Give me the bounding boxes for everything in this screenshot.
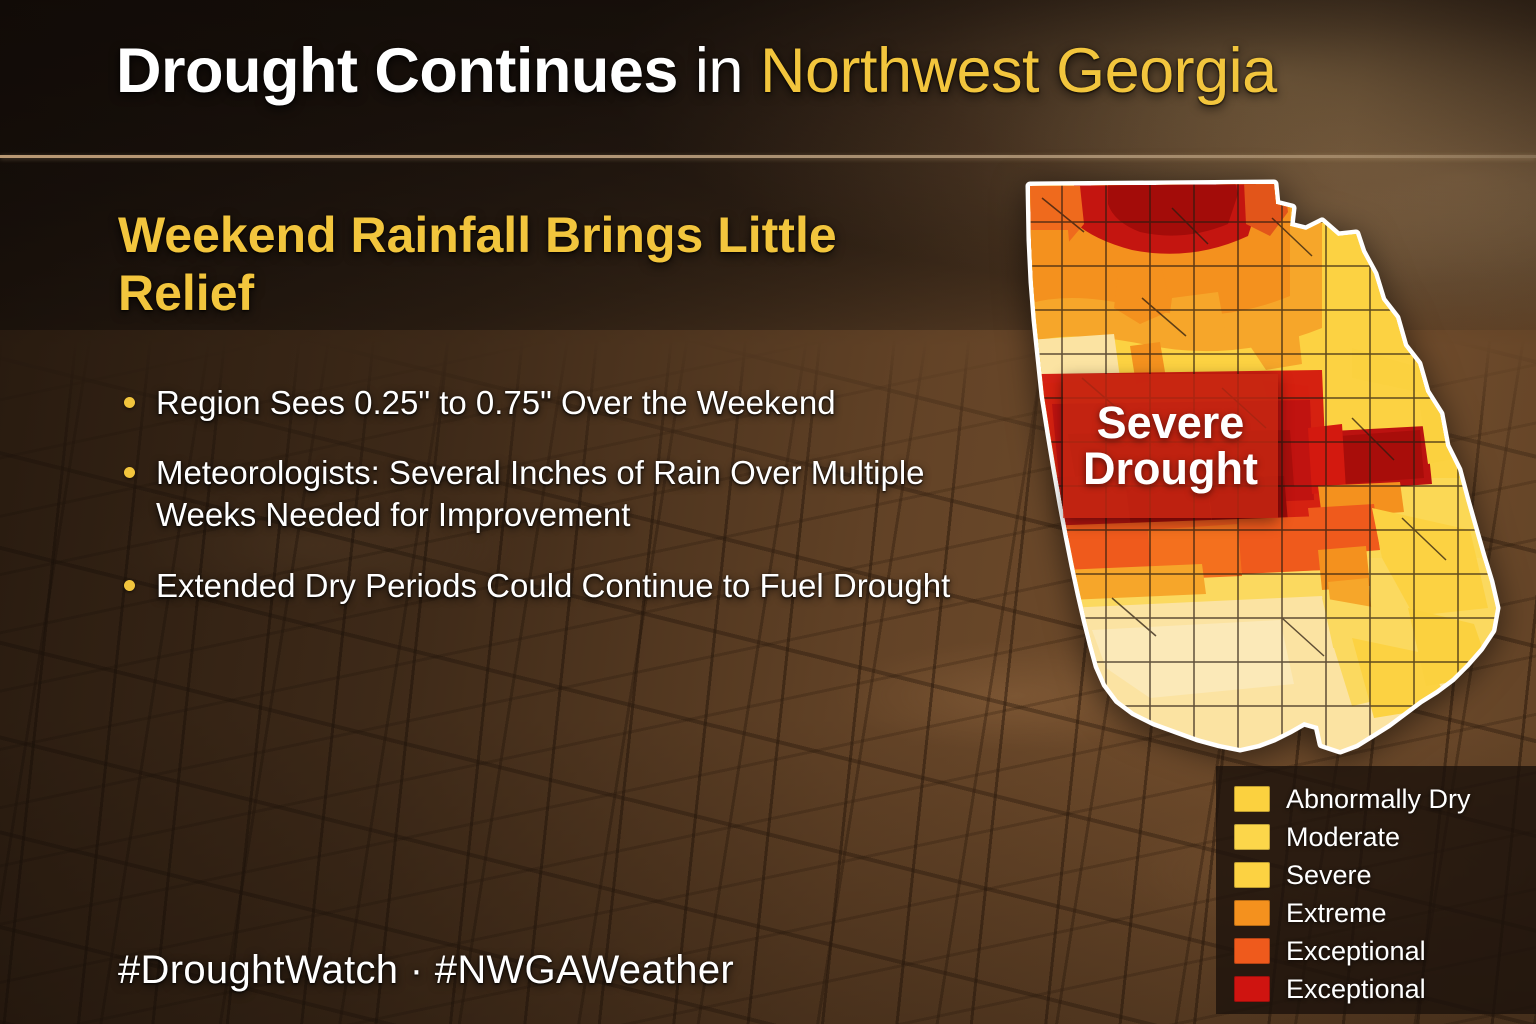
- bullet-dot-icon: [124, 467, 135, 478]
- legend-swatch: [1234, 900, 1270, 926]
- hashtag-footer: #DroughtWatch · #NWGAWeather: [118, 948, 734, 993]
- page-title: Drought Continues in Northwest Georgia: [116, 40, 1277, 103]
- legend-item: Severe: [1234, 856, 1536, 894]
- legend-label: Extreme: [1286, 900, 1387, 927]
- list-item: Meteorologists: Several Inches of Rain O…: [118, 452, 1028, 536]
- legend-item: Moderate: [1234, 818, 1536, 856]
- list-item-text: Region Sees 0.25" to 0.75" Over the Week…: [156, 384, 836, 421]
- legend-swatch: [1234, 938, 1270, 964]
- legend-swatch: [1234, 862, 1270, 888]
- legend-item: Abnormally Dry: [1234, 780, 1536, 818]
- legend-label: Moderate: [1286, 824, 1400, 851]
- legend-label: Exceptional: [1286, 938, 1426, 965]
- title-accent: Northwest Georgia: [760, 36, 1277, 106]
- legend-swatch: [1234, 786, 1270, 812]
- severe-drought-callout: Severe Drought: [1063, 374, 1278, 518]
- legend-item: Exceptional: [1234, 932, 1536, 970]
- legend-swatch: [1234, 976, 1270, 1002]
- weather-graphic: Drought Continues in Northwest Georgia W…: [0, 0, 1536, 1024]
- list-item: Region Sees 0.25" to 0.75" Over the Week…: [118, 382, 1028, 424]
- title-connector: in: [678, 36, 760, 106]
- header-divider: [0, 155, 1536, 158]
- list-item-text: Meteorologists: Several Inches of Rain O…: [156, 454, 925, 533]
- legend-label: Abnormally Dry: [1286, 786, 1471, 813]
- list-item-text: Extended Dry Periods Could Continue to F…: [156, 567, 950, 604]
- title-strong: Drought Continues: [116, 36, 678, 106]
- list-item: Extended Dry Periods Could Continue to F…: [118, 565, 1028, 607]
- legend-label: Exceptional: [1286, 976, 1426, 1003]
- legend-item: Extreme: [1234, 894, 1536, 932]
- bullet-dot-icon: [124, 397, 135, 408]
- bullet-list: Region Sees 0.25" to 0.75" Over the Week…: [118, 382, 1028, 635]
- legend-swatch: [1234, 824, 1270, 850]
- subheadline: Weekend Rainfall Brings Little Relief: [118, 206, 878, 322]
- bullet-dot-icon: [124, 580, 135, 591]
- legend-item: Exceptional: [1234, 970, 1536, 1008]
- callout-line-1: Severe: [1097, 400, 1245, 446]
- callout-line-2: Drought: [1083, 446, 1258, 492]
- drought-legend: Abnormally Dry Moderate Severe Extreme E…: [1216, 766, 1536, 1014]
- legend-label: Severe: [1286, 862, 1372, 889]
